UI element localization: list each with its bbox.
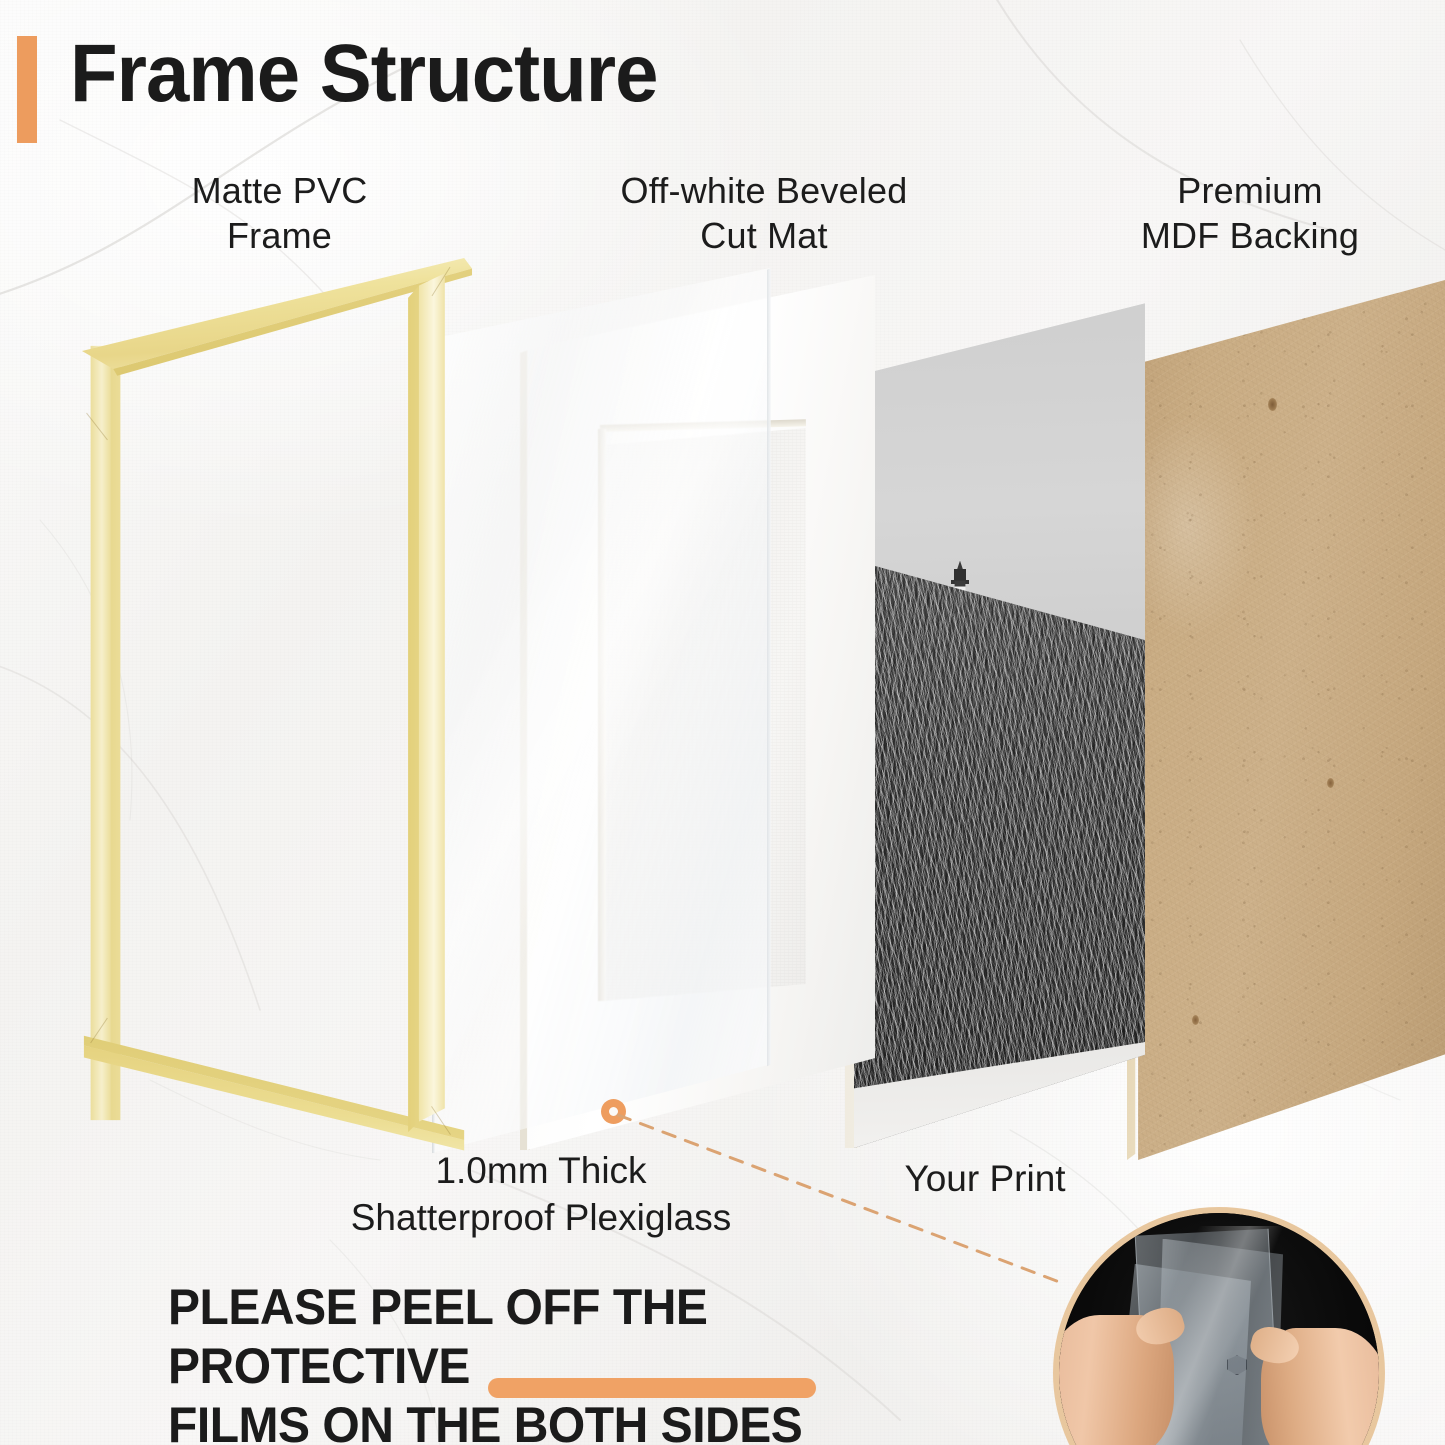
plexiglass-callout-marker bbox=[601, 1099, 626, 1124]
layer-plexiglass bbox=[425, 268, 770, 1153]
layer-mdf-backing bbox=[1115, 280, 1445, 1160]
mdf-knot-mark bbox=[1268, 398, 1277, 411]
layer-print bbox=[845, 300, 1145, 1148]
mdf-speckle-texture bbox=[1115, 280, 1445, 1160]
mdf-knot-mark bbox=[1192, 1015, 1199, 1025]
label-plexiglass: 1.0mm Thick Shatterproof Plexiglass bbox=[245, 1148, 837, 1242]
title-accent-bar bbox=[17, 36, 37, 143]
warning-text: PLEASE PEEL OFF THE PROTECTIVE FILMS ON … bbox=[168, 1278, 974, 1445]
plexiglass-sheen bbox=[425, 268, 770, 1153]
plexiglass-right-edge bbox=[767, 268, 771, 1153]
label-off-white-beveled-cut-mat: Off-white Beveled Cut Mat bbox=[520, 168, 1008, 259]
page-title: Frame Structure bbox=[70, 27, 658, 121]
label-matte-pvc-frame: Matte PVC Frame bbox=[97, 168, 462, 259]
infographic-canvas: Frame Structure Matte PVC Frame Off-whit… bbox=[0, 0, 1445, 1445]
print-photo bbox=[845, 300, 1145, 1148]
protective-film-peel-photo bbox=[1053, 1207, 1385, 1445]
label-your-print: Your Print bbox=[860, 1158, 1110, 1200]
frame-rail-left bbox=[72, 338, 134, 1128]
mdf-knot-mark bbox=[1327, 778, 1334, 788]
label-premium-mdf-backing: Premium MDF Backing bbox=[1065, 168, 1435, 259]
layer-pvc-frame bbox=[72, 258, 472, 1158]
